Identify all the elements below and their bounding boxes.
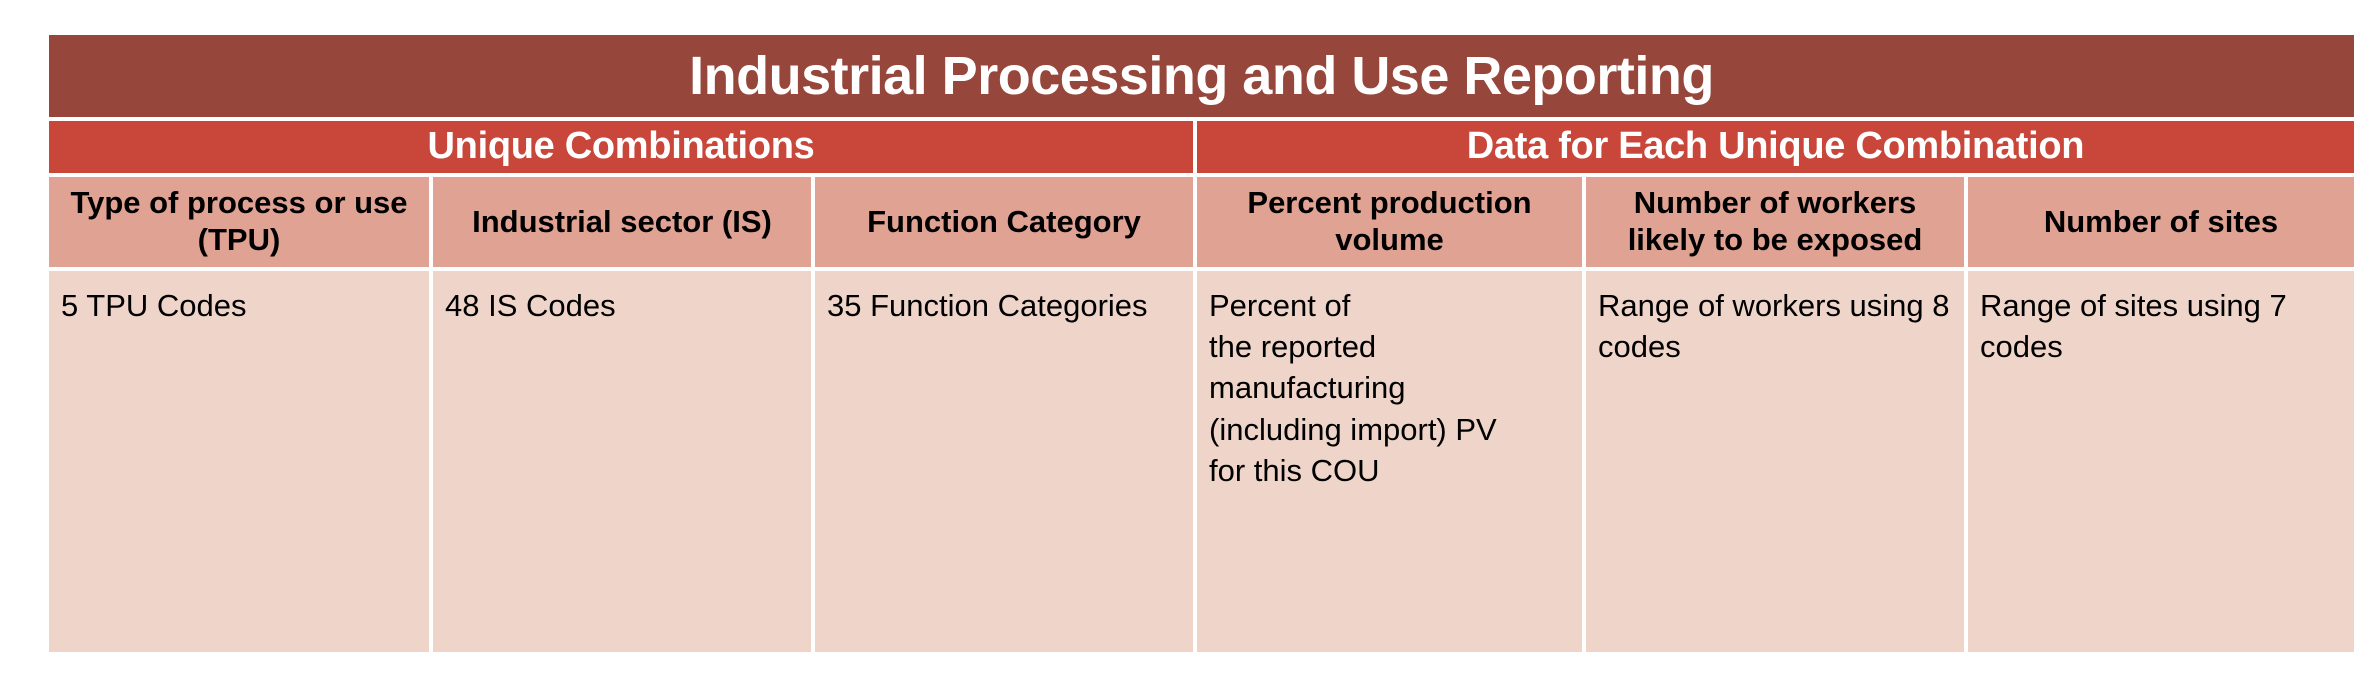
cell-range-of-workers: Range of workers using 8 codes	[1586, 271, 1964, 652]
cell-function-categories: 35 Function Categories	[815, 271, 1193, 652]
table-row: 5 TPU Codes 48 IS Codes 35 Function Cate…	[49, 271, 2354, 652]
page-root: Industrial Processing and Use Reporting …	[0, 0, 2355, 694]
group-header-row: Unique Combinations Data for Each Unique…	[49, 121, 2354, 173]
cell-percent-production-volume: Percent of the reported manufacturing (i…	[1197, 271, 1582, 652]
table-head: Industrial Processing and Use Reporting …	[49, 35, 2354, 267]
column-header-percent-production-volume: Percent production volume	[1197, 177, 1582, 267]
cell-tpu-codes: 5 TPU Codes	[49, 271, 429, 652]
cell-is-codes: 48 IS Codes	[433, 271, 811, 652]
group-header-unique-combinations: Unique Combinations	[49, 121, 1193, 173]
title-row: Industrial Processing and Use Reporting	[49, 35, 2354, 117]
column-header-industrial-sector: Industrial sector (IS)	[433, 177, 811, 267]
column-header-number-of-workers-likely-exposed: Number of workers likely to be exposed	[1586, 177, 1964, 267]
group-header-data-for-each-unique-combination: Data for Each Unique Combination	[1197, 121, 2354, 173]
cell-range-of-sites: Range of sites using 7 codes	[1968, 271, 2354, 652]
column-header-row: Type of process or use (TPU) Industrial …	[49, 177, 2354, 267]
table-body: 5 TPU Codes 48 IS Codes 35 Function Cate…	[49, 271, 2354, 652]
column-header-type-of-process-or-use: Type of process or use (TPU)	[49, 177, 429, 267]
report-table-container: Industrial Processing and Use Reporting …	[45, 31, 2330, 656]
column-header-function-category: Function Category	[815, 177, 1193, 267]
column-header-number-of-sites: Number of sites	[1968, 177, 2354, 267]
table-title: Industrial Processing and Use Reporting	[49, 35, 2354, 117]
industrial-processing-use-reporting-table: Industrial Processing and Use Reporting …	[45, 31, 2355, 656]
